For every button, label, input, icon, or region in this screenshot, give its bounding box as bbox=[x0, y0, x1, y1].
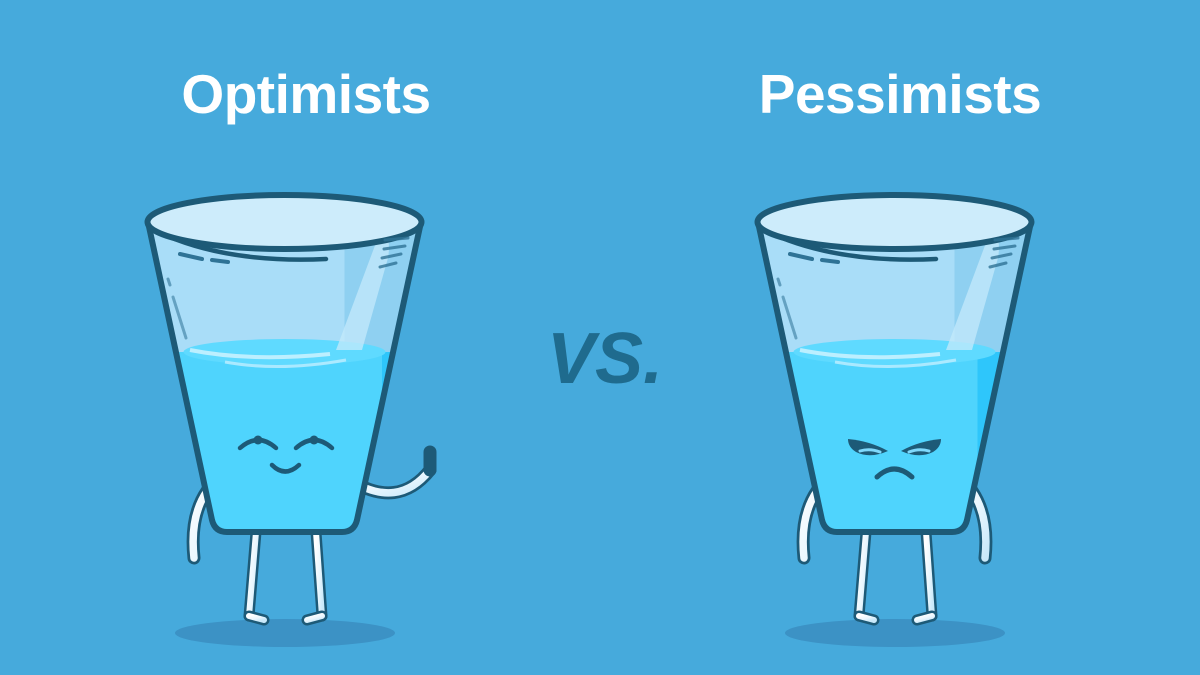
pessimist-glass-character bbox=[740, 180, 1070, 660]
legs bbox=[859, 532, 932, 620]
heading-optimists: Optimists bbox=[96, 64, 516, 125]
versus-label: VS. bbox=[510, 318, 700, 400]
ground-shadow bbox=[175, 619, 395, 647]
optimist-glass-character bbox=[130, 180, 480, 660]
optimist-illustration bbox=[130, 180, 480, 660]
ground-shadow bbox=[785, 619, 1005, 647]
heading-pessimists: Pessimists bbox=[690, 64, 1110, 125]
legs bbox=[249, 532, 322, 620]
poster-canvas: Optimists Pessimists VS. bbox=[0, 0, 1200, 675]
pessimist-illustration bbox=[740, 180, 1070, 660]
